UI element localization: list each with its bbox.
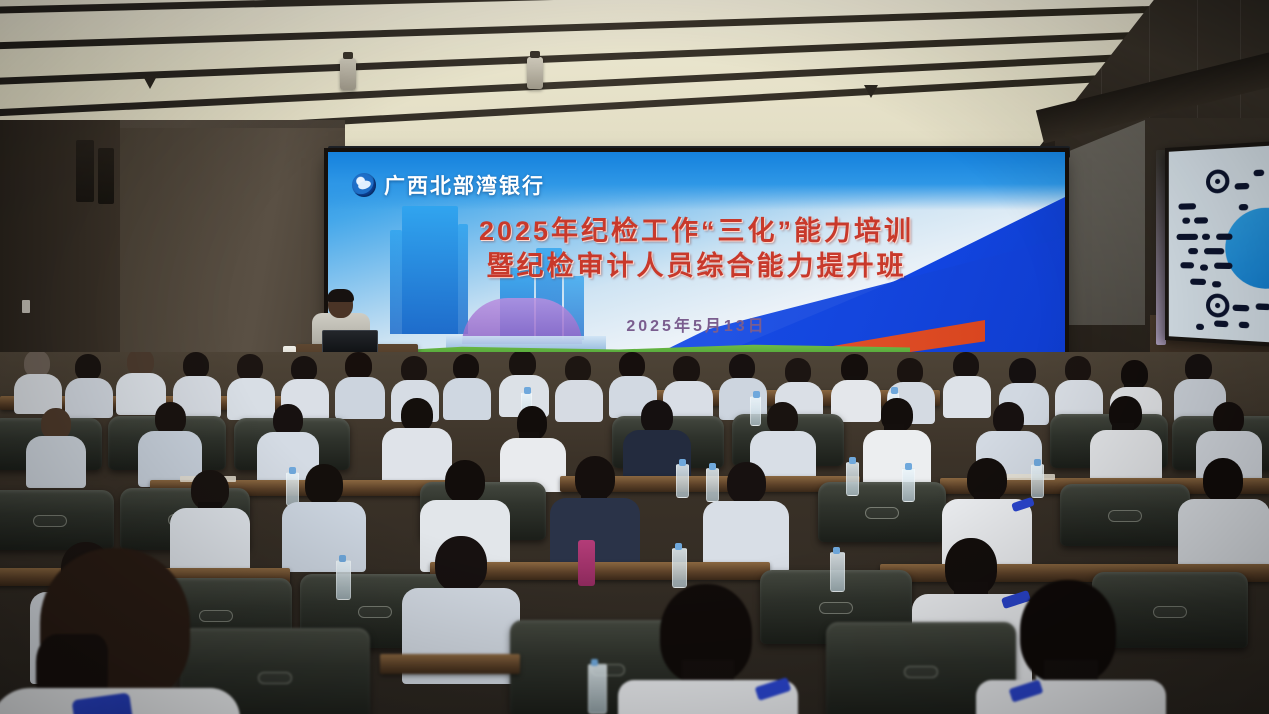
cone-speaker-icon [143, 76, 157, 89]
notepad [1005, 474, 1055, 480]
seat-badge [819, 602, 853, 614]
screen-title-line1: 2025年纪检工作“三化”能力培训 [328, 214, 1065, 249]
screen-date-text: 2025年5月13日 [328, 312, 1065, 336]
thermos-flask[interactable] [578, 540, 595, 586]
qr-finder-icon [1206, 293, 1229, 318]
audience-area [0, 352, 1269, 714]
water-bottle[interactable] [336, 560, 351, 600]
water-bottle[interactable] [286, 472, 299, 506]
bank-swirl-logo-icon [352, 173, 376, 197]
seat-badge [865, 507, 899, 519]
bank-name-text: 广西北部湾银行 [384, 170, 545, 200]
water-bottle[interactable] [902, 468, 915, 502]
light-switch-plate[interactable] [22, 300, 30, 313]
cone-speaker-icon [864, 85, 878, 98]
water-bottle[interactable] [676, 464, 689, 498]
lecture-seat[interactable] [1060, 484, 1190, 546]
water-bottle[interactable] [1031, 464, 1044, 498]
seat-badge [358, 606, 392, 618]
water-bottle[interactable] [846, 462, 859, 496]
seat-badge [258, 672, 292, 684]
conference-hall-photo: 广西北部湾银行 2025年纪检工作“三化”能力培训 暨纪检审计人员综合能力提升班… [0, 0, 1269, 714]
qr-center-circle [1225, 207, 1269, 290]
water-bottle[interactable] [750, 396, 761, 426]
cylinder-spotlight-icon [340, 58, 356, 90]
seat-badge [199, 610, 233, 622]
seat-badge [33, 515, 67, 527]
screen-brand-logo: 广西北部湾银行 [352, 170, 545, 200]
water-bottle[interactable] [830, 552, 845, 592]
cylinder-spotlight-icon [527, 57, 543, 89]
lecture-seat[interactable] [818, 482, 946, 542]
water-bottle[interactable] [706, 468, 719, 502]
seat-badge [1153, 606, 1187, 618]
screen-title-block: 2025年纪检工作“三化”能力培训 暨纪检审计人员综合能力提升班 [328, 214, 1065, 283]
wall-speaker-icon [98, 148, 114, 204]
seat-badge [1108, 510, 1142, 522]
screen-title-line2: 暨纪检审计人员综合能力提升班 [328, 249, 1065, 284]
seat-badge [904, 666, 938, 678]
presenter-hair [327, 289, 354, 302]
water-bottle[interactable] [588, 664, 607, 714]
qr-finder-icon [1206, 169, 1229, 194]
side-qr-display[interactable] [1165, 141, 1269, 348]
water-bottle[interactable] [672, 548, 687, 588]
desk-row [380, 654, 520, 674]
wall-speaker-icon [76, 140, 94, 202]
lecture-seat[interactable] [0, 490, 114, 550]
